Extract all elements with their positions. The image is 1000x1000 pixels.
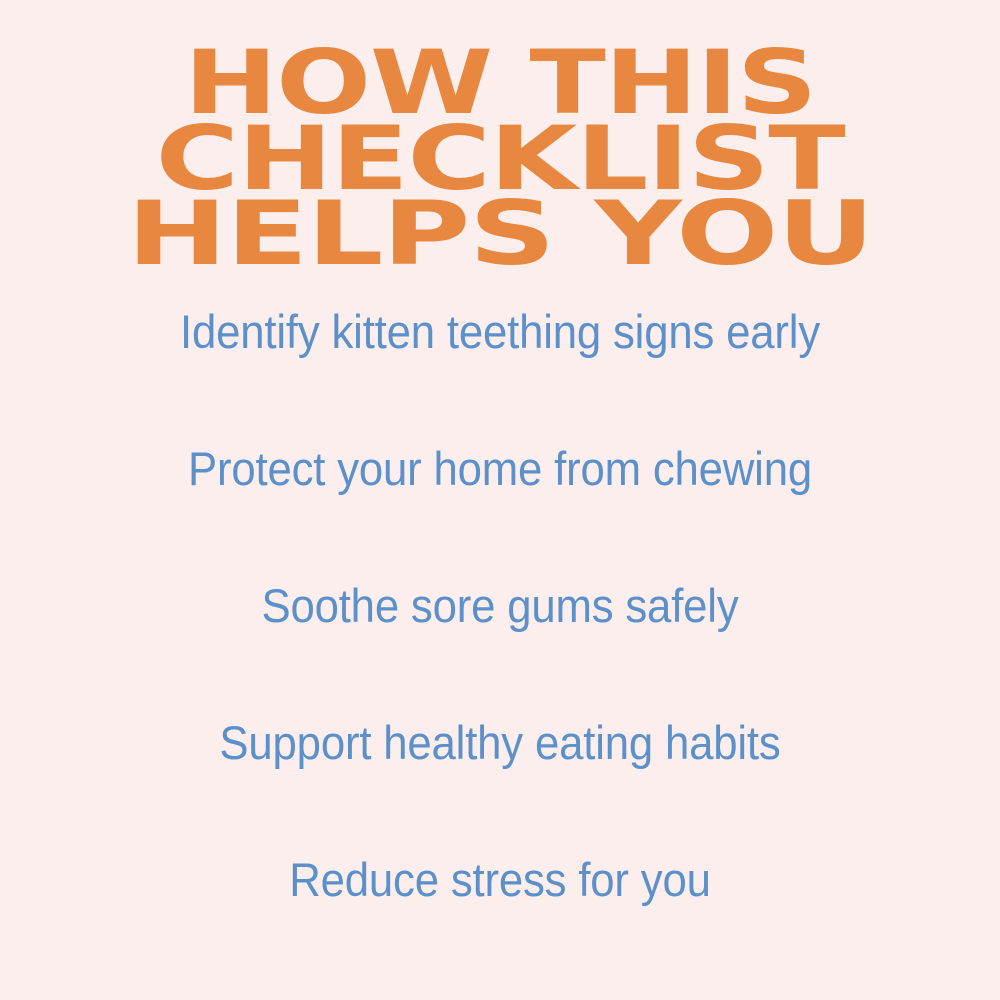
benefit-item-3: Soothe sore gums safely bbox=[35, 582, 965, 719]
benefit-list: Identify kitten teething signs early Pro… bbox=[0, 308, 1000, 903]
benefit-item-5: Reduce stress for you bbox=[35, 856, 965, 903]
headline-line-3: HELPS YOU bbox=[0, 198, 1000, 271]
benefit-item-1: Identify kitten teething signs early bbox=[35, 308, 965, 445]
benefit-item-4: Support healthy eating habits bbox=[35, 719, 965, 856]
page-title: HOW THIS CHECKLIST HELPS YOU bbox=[0, 47, 1000, 269]
poster-canvas: HOW THIS CHECKLIST HELPS YOU Identify ki… bbox=[0, 0, 1000, 1000]
benefit-item-2: Protect your home from chewing bbox=[35, 445, 965, 582]
